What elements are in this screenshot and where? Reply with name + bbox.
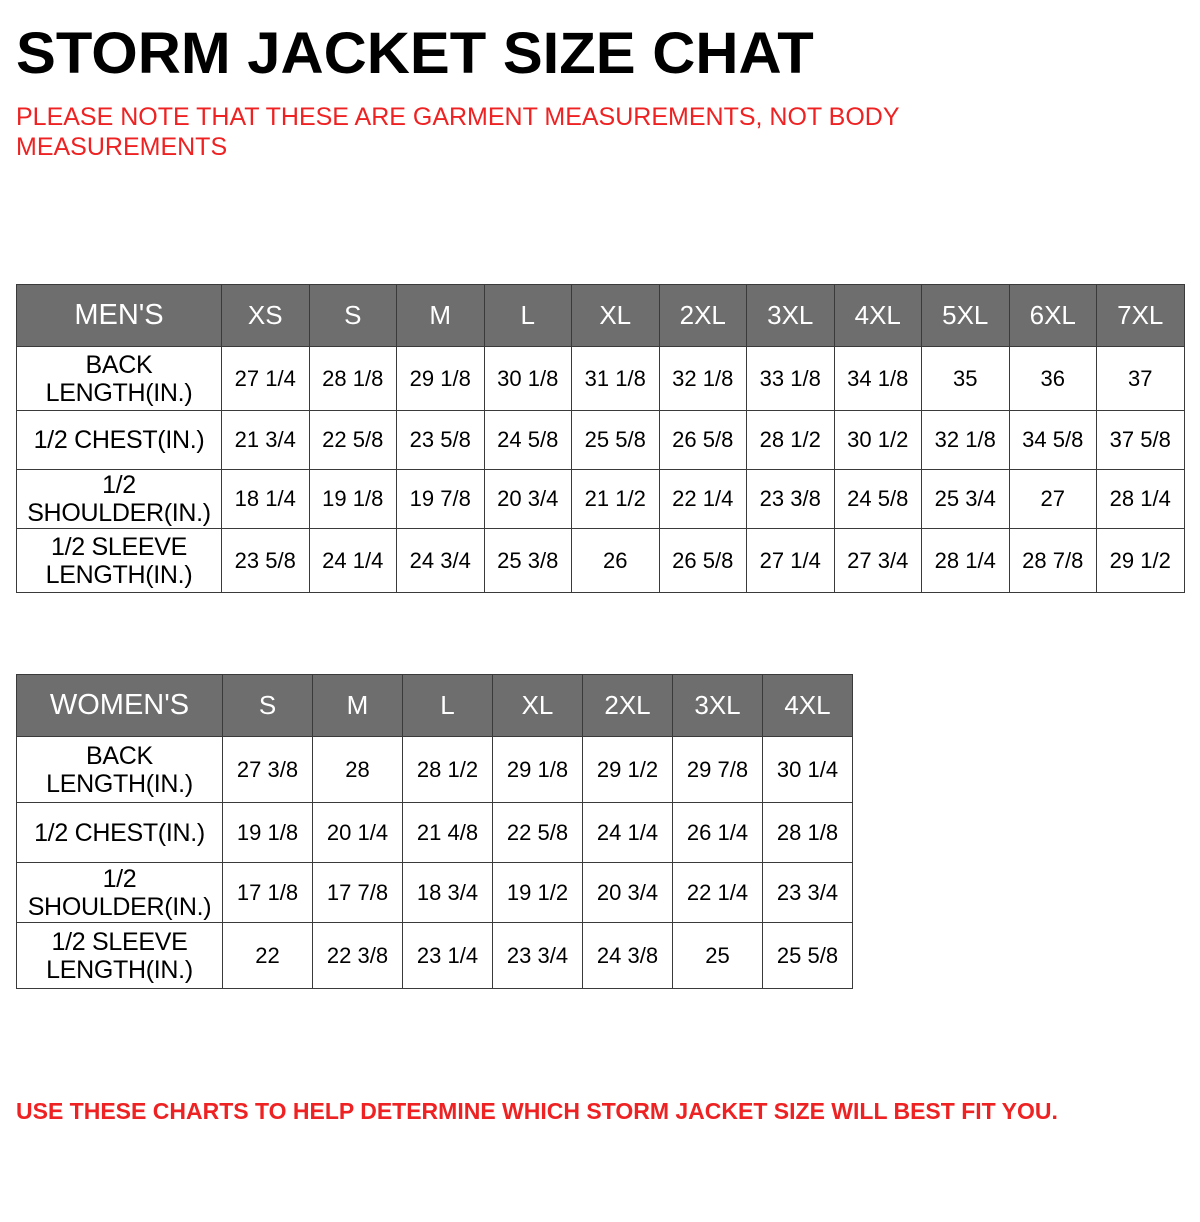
mens-cell-chest-4xl: 30 1/2 xyxy=(834,411,922,470)
mens-size-table-container: MEN'S XS S M L XL 2XL 3XL 4XL 5XL 6XL 7X… xyxy=(16,284,1184,593)
womens-cell-sleeve-2xl: 24 3/8 xyxy=(583,923,673,989)
row-label-line: 1/2 SHOULDER(IN.) xyxy=(28,865,212,921)
mens-cell-back-length-5xl: 35 xyxy=(922,347,1010,411)
size-chart-page: STORM JACKET SIZE CHAT PLEASE NOTE THAT … xyxy=(0,22,1200,1222)
row-label-line: LENGTH(IN.) xyxy=(46,561,193,589)
mens-cell-sleeve-s: 24 1/4 xyxy=(309,529,397,593)
womens-cell-shoulder-3xl: 22 1/4 xyxy=(673,863,763,923)
mens-cell-shoulder-4xl: 24 5/8 xyxy=(834,470,922,529)
mens-cell-sleeve-6xl: 28 7/8 xyxy=(1009,529,1097,593)
womens-col-header-2xl: 2XL xyxy=(583,675,673,737)
womens-col-header-4xl: 4XL xyxy=(763,675,853,737)
womens-cell-back-length-l: 28 1/2 xyxy=(403,737,493,803)
womens-col-header-l: L xyxy=(403,675,493,737)
womens-cell-sleeve-3xl: 25 xyxy=(673,923,763,989)
table-row: 1/2 CHEST(IN.) 21 3/4 22 5/8 23 5/8 24 5… xyxy=(17,411,1185,470)
table-row: 1/2 SLEEVE LENGTH(IN.) 22 22 3/8 23 1/4 … xyxy=(17,923,853,989)
row-label-line: LENGTH(IN.) xyxy=(46,379,193,407)
mens-cell-back-length-m: 29 1/8 xyxy=(397,347,485,411)
womens-col-header-m: M xyxy=(313,675,403,737)
mens-table-body: BACK LENGTH(IN.) 27 1/4 28 1/8 29 1/8 30… xyxy=(17,347,1185,593)
womens-col-header-xl: XL xyxy=(493,675,583,737)
table-row: 1/2 CHEST(IN.) 19 1/8 20 1/4 21 4/8 22 5… xyxy=(17,803,853,863)
mens-cell-sleeve-5xl: 28 1/4 xyxy=(922,529,1010,593)
table-row: BACK LENGTH(IN.) 27 3/8 28 28 1/2 29 1/8… xyxy=(17,737,853,803)
mens-cell-chest-6xl: 34 5/8 xyxy=(1009,411,1097,470)
row-label-line: 1/2 CHEST(IN.) xyxy=(34,426,205,454)
row-label-line: BACK xyxy=(86,742,153,770)
row-label-line: 1/2 SLEEVE xyxy=(52,928,188,956)
mens-cell-back-length-3xl: 33 1/8 xyxy=(747,347,835,411)
womens-row-label-chest: 1/2 CHEST(IN.) xyxy=(17,803,223,863)
mens-cell-shoulder-l: 20 3/4 xyxy=(484,470,572,529)
mens-row-label-sleeve-length: 1/2 SLEEVE LENGTH(IN.) xyxy=(17,529,222,593)
womens-cell-sleeve-xl: 23 3/4 xyxy=(493,923,583,989)
mens-cell-chest-3xl: 28 1/2 xyxy=(747,411,835,470)
mens-cell-back-length-xs: 27 1/4 xyxy=(222,347,310,411)
table-row: 1/2 SHOULDER(IN.) 17 1/8 17 7/8 18 3/4 1… xyxy=(17,863,853,923)
mens-cell-shoulder-5xl: 25 3/4 xyxy=(922,470,1010,529)
mens-cell-back-length-s: 28 1/8 xyxy=(309,347,397,411)
page-title: STORM JACKET SIZE CHAT xyxy=(16,22,1200,86)
garment-measurement-note: PLEASE NOTE THAT THESE ARE GARMENT MEASU… xyxy=(16,102,966,162)
mens-cell-shoulder-xs: 18 1/4 xyxy=(222,470,310,529)
womens-row-label-back-length: BACK LENGTH(IN.) xyxy=(17,737,223,803)
table-row: BACK LENGTH(IN.) 27 1/4 28 1/8 29 1/8 30… xyxy=(17,347,1185,411)
mens-cell-sleeve-3xl: 27 1/4 xyxy=(747,529,835,593)
mens-cell-sleeve-xl: 26 xyxy=(572,529,660,593)
mens-cell-sleeve-4xl: 27 3/4 xyxy=(834,529,922,593)
womens-cell-chest-m: 20 1/4 xyxy=(313,803,403,863)
womens-cell-shoulder-l: 18 3/4 xyxy=(403,863,493,923)
table-row: 1/2 SHOULDER(IN.) 18 1/4 19 1/8 19 7/8 2… xyxy=(17,470,1185,529)
table-row: 1/2 SLEEVE LENGTH(IN.) 23 5/8 24 1/4 24 … xyxy=(17,529,1185,593)
womens-cell-sleeve-s: 22 xyxy=(223,923,313,989)
womens-cell-chest-3xl: 26 1/4 xyxy=(673,803,763,863)
mens-cell-chest-5xl: 32 1/8 xyxy=(922,411,1010,470)
mens-cell-sleeve-xs: 23 5/8 xyxy=(222,529,310,593)
mens-header-row: MEN'S XS S M L XL 2XL 3XL 4XL 5XL 6XL 7X… xyxy=(17,285,1185,347)
mens-cell-chest-l: 24 5/8 xyxy=(484,411,572,470)
mens-cell-back-length-4xl: 34 1/8 xyxy=(834,347,922,411)
womens-cell-shoulder-s: 17 1/8 xyxy=(223,863,313,923)
mens-cell-back-length-6xl: 36 xyxy=(1009,347,1097,411)
womens-size-table-container: WOMEN'S S M L XL 2XL 3XL 4XL BACK LENGTH… xyxy=(16,674,852,989)
mens-cell-sleeve-7xl: 29 1/2 xyxy=(1097,529,1185,593)
mens-col-header-xl: XL xyxy=(572,285,660,347)
womens-cell-back-length-3xl: 29 7/8 xyxy=(673,737,763,803)
womens-cell-back-length-2xl: 29 1/2 xyxy=(583,737,673,803)
mens-cell-shoulder-m: 19 7/8 xyxy=(397,470,485,529)
womens-col-header-s: S xyxy=(223,675,313,737)
mens-cell-chest-xs: 21 3/4 xyxy=(222,411,310,470)
row-label-line: BACK xyxy=(86,351,153,379)
womens-row-label-sleeve-length: 1/2 SLEEVE LENGTH(IN.) xyxy=(17,923,223,989)
mens-row-label-chest: 1/2 CHEST(IN.) xyxy=(17,411,222,470)
mens-size-table: MEN'S XS S M L XL 2XL 3XL 4XL 5XL 6XL 7X… xyxy=(16,284,1185,593)
womens-cell-sleeve-m: 22 3/8 xyxy=(313,923,403,989)
mens-col-header-s: S xyxy=(309,285,397,347)
womens-cell-back-length-xl: 29 1/8 xyxy=(493,737,583,803)
row-label-line: 1/2 SLEEVE xyxy=(51,533,187,561)
mens-cell-chest-2xl: 26 5/8 xyxy=(659,411,747,470)
size-help-note: USE THESE CHARTS TO HELP DETERMINE WHICH… xyxy=(16,1097,1058,1125)
row-label-line: 1/2 SHOULDER(IN.) xyxy=(27,471,211,527)
mens-cell-back-length-l: 30 1/8 xyxy=(484,347,572,411)
mens-cell-sleeve-m: 24 3/4 xyxy=(397,529,485,593)
mens-cell-back-length-xl: 31 1/8 xyxy=(572,347,660,411)
mens-table-title: MEN'S xyxy=(17,285,222,347)
womens-cell-sleeve-l: 23 1/4 xyxy=(403,923,493,989)
womens-row-label-shoulder: 1/2 SHOULDER(IN.) xyxy=(17,863,223,923)
mens-table-header: MEN'S XS S M L XL 2XL 3XL 4XL 5XL 6XL 7X… xyxy=(17,285,1185,347)
womens-cell-back-length-m: 28 xyxy=(313,737,403,803)
mens-col-header-2xl: 2XL xyxy=(659,285,747,347)
womens-cell-chest-4xl: 28 1/8 xyxy=(763,803,853,863)
mens-cell-shoulder-s: 19 1/8 xyxy=(309,470,397,529)
mens-col-header-l: L xyxy=(484,285,572,347)
womens-cell-chest-s: 19 1/8 xyxy=(223,803,313,863)
womens-cell-chest-2xl: 24 1/4 xyxy=(583,803,673,863)
row-label-line: LENGTH(IN.) xyxy=(46,770,193,798)
womens-header-row: WOMEN'S S M L XL 2XL 3XL 4XL xyxy=(17,675,853,737)
womens-table-body: BACK LENGTH(IN.) 27 3/8 28 28 1/2 29 1/8… xyxy=(17,737,853,989)
mens-cell-chest-m: 23 5/8 xyxy=(397,411,485,470)
mens-col-header-3xl: 3XL xyxy=(747,285,835,347)
womens-cell-shoulder-2xl: 20 3/4 xyxy=(583,863,673,923)
womens-col-header-3xl: 3XL xyxy=(673,675,763,737)
womens-cell-chest-l: 21 4/8 xyxy=(403,803,493,863)
mens-cell-shoulder-2xl: 22 1/4 xyxy=(659,470,747,529)
mens-col-header-4xl: 4XL xyxy=(834,285,922,347)
mens-cell-back-length-7xl: 37 xyxy=(1097,347,1185,411)
womens-cell-back-length-s: 27 3/8 xyxy=(223,737,313,803)
mens-col-header-7xl: 7XL xyxy=(1097,285,1185,347)
womens-size-table: WOMEN'S S M L XL 2XL 3XL 4XL BACK LENGTH… xyxy=(16,674,853,989)
mens-cell-shoulder-6xl: 27 xyxy=(1009,470,1097,529)
row-label-line: 1/2 CHEST(IN.) xyxy=(34,819,205,847)
womens-cell-chest-xl: 22 5/8 xyxy=(493,803,583,863)
womens-cell-shoulder-4xl: 23 3/4 xyxy=(763,863,853,923)
womens-cell-back-length-4xl: 30 1/4 xyxy=(763,737,853,803)
mens-cell-shoulder-3xl: 23 3/8 xyxy=(747,470,835,529)
mens-cell-chest-xl: 25 5/8 xyxy=(572,411,660,470)
mens-col-header-5xl: 5XL xyxy=(922,285,1010,347)
mens-cell-back-length-2xl: 32 1/8 xyxy=(659,347,747,411)
mens-row-label-shoulder: 1/2 SHOULDER(IN.) xyxy=(17,470,222,529)
mens-col-header-xs: XS xyxy=(222,285,310,347)
mens-row-label-back-length: BACK LENGTH(IN.) xyxy=(17,347,222,411)
mens-cell-sleeve-2xl: 26 5/8 xyxy=(659,529,747,593)
womens-table-header: WOMEN'S S M L XL 2XL 3XL 4XL xyxy=(17,675,853,737)
womens-cell-sleeve-4xl: 25 5/8 xyxy=(763,923,853,989)
mens-cell-chest-7xl: 37 5/8 xyxy=(1097,411,1185,470)
row-label-line: LENGTH(IN.) xyxy=(46,956,193,984)
mens-cell-shoulder-xl: 21 1/2 xyxy=(572,470,660,529)
mens-cell-sleeve-l: 25 3/8 xyxy=(484,529,572,593)
mens-col-header-6xl: 6XL xyxy=(1009,285,1097,347)
womens-cell-shoulder-xl: 19 1/2 xyxy=(493,863,583,923)
womens-cell-shoulder-m: 17 7/8 xyxy=(313,863,403,923)
mens-cell-chest-s: 22 5/8 xyxy=(309,411,397,470)
mens-cell-shoulder-7xl: 28 1/4 xyxy=(1097,470,1185,529)
womens-table-title: WOMEN'S xyxy=(17,675,223,737)
mens-col-header-m: M xyxy=(397,285,485,347)
